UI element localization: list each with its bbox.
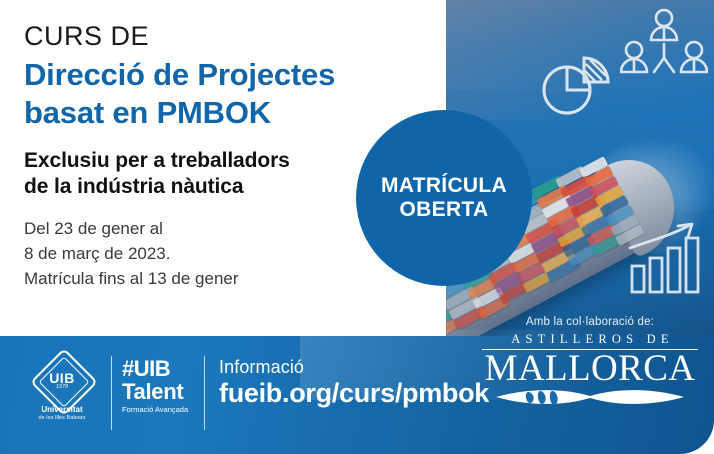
- footer-divider-2: [204, 356, 205, 430]
- course-title-line-1: Direcció de Projectes: [24, 56, 434, 94]
- talent-line-3: Formació Avançada: [122, 405, 204, 414]
- course-title-line-2: basat en PMBOK: [24, 94, 434, 132]
- collaboration-label: Amb la col·laboració de:: [470, 316, 710, 328]
- bar-chart-growth-icon: [628, 222, 700, 301]
- course-promo-banner: CURS DE Direcció de Projectes basat en P…: [0, 0, 714, 454]
- kicker-text: CURS DE: [24, 22, 434, 50]
- badge-line-1: MATRÍCULA: [381, 174, 507, 198]
- enrollment-open-badge: MATRÍCULA OBERTA: [356, 110, 532, 286]
- uib-monogram-sub: 1978: [31, 384, 93, 390]
- uib-talent-logo: #UIB Talent Formació Avançada: [122, 358, 204, 414]
- course-dates-line-3: Matrícula fins al 13 de gener: [24, 267, 434, 292]
- information-block: Informació fueib.org/curs/pmbok: [219, 358, 489, 409]
- course-title: Direcció de Projectes basat en PMBOK: [24, 56, 434, 132]
- talent-line-2: Talent: [122, 380, 204, 403]
- information-label: Informació: [219, 358, 489, 377]
- uib-name-line-2: de les Illes Balears: [25, 415, 99, 422]
- collaboration-block: Amb la col·laboració de: ASTILLEROS DE M…: [470, 316, 710, 411]
- footer-divider-1: [111, 356, 112, 430]
- uib-name-line-1: Universitat: [41, 405, 82, 414]
- uib-logo: UIB 1978 Universitat de les Illes Balear…: [31, 358, 93, 428]
- org-chart-people-icon: [620, 6, 708, 89]
- partner-divider-rule: [482, 349, 698, 350]
- partner-name-top: ASTILLEROS DE: [470, 332, 710, 347]
- uib-full-name: Universitat de les Illes Balears: [25, 405, 99, 422]
- pie-chart-icon: [540, 52, 612, 123]
- talent-line-1: #UIB: [122, 358, 204, 380]
- partner-name-main: MALLORCA: [470, 351, 710, 387]
- information-url[interactable]: fueib.org/curs/pmbok: [219, 379, 489, 409]
- partner-swash-icon: [490, 385, 690, 411]
- badge-line-2: OBERTA: [400, 198, 489, 222]
